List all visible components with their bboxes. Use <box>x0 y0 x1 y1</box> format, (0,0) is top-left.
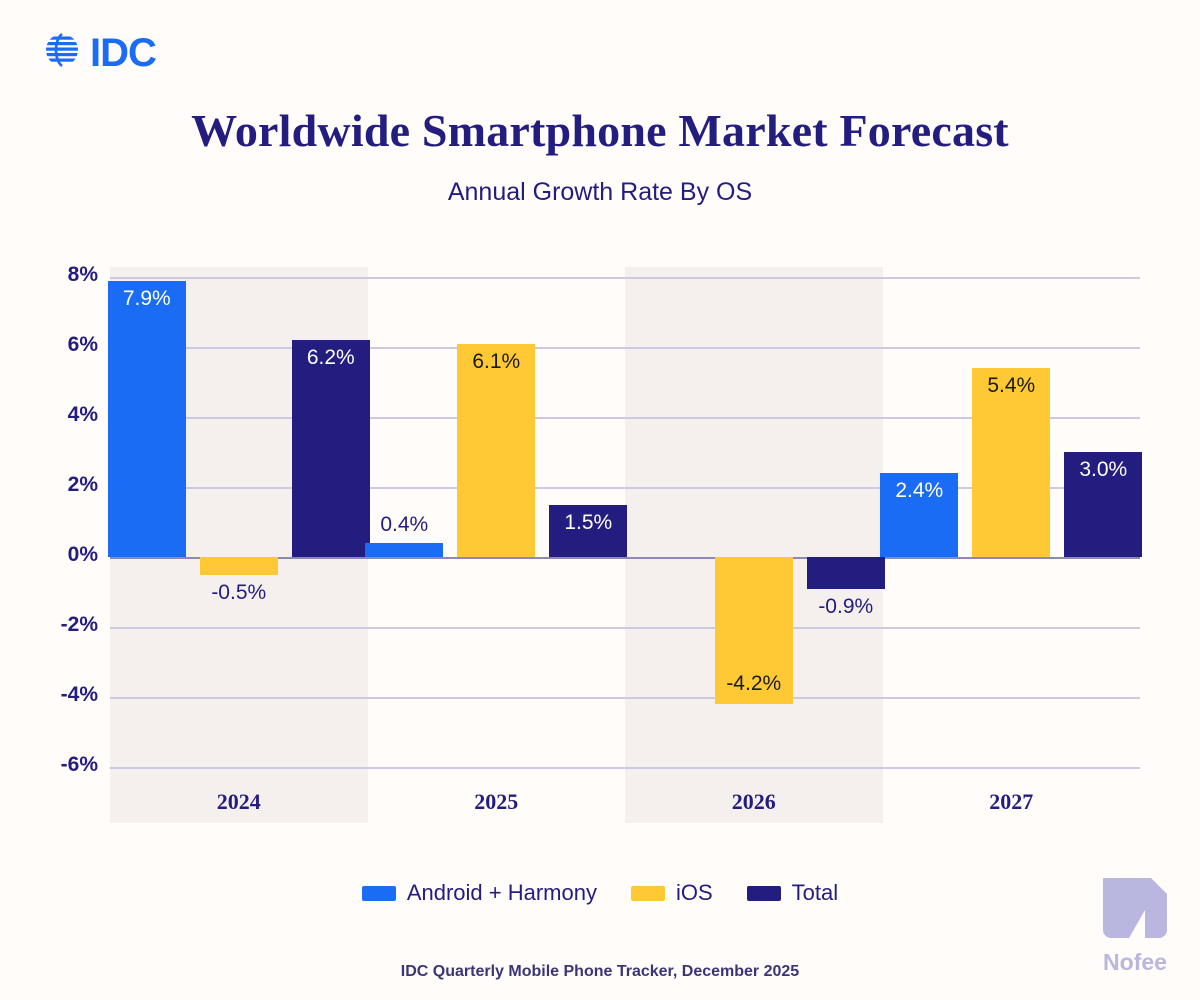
x-axis-tick-label: 2026 <box>625 789 883 815</box>
idc-logo: IDC <box>42 30 156 75</box>
bar-value-label: 6.2% <box>280 346 382 370</box>
y-axis-tick-label: 6% <box>24 333 98 357</box>
bar-value-label: 3.0% <box>1052 458 1154 482</box>
page-title: Worldwide Smartphone Market Forecast <box>0 104 1200 157</box>
bar-value-label: -0.9% <box>795 595 897 619</box>
bar[interactable] <box>200 557 278 575</box>
y-axis-tick-label: 0% <box>24 543 98 567</box>
legend-swatch <box>362 886 396 901</box>
legend-label: Android + Harmony <box>407 880 597 906</box>
chart-legend: Android + HarmonyiOSTotal <box>0 880 1200 906</box>
bar[interactable] <box>457 344 535 558</box>
nofee-logo-icon <box>1087 872 1183 949</box>
legend-item[interactable]: iOS <box>631 880 713 906</box>
bar[interactable] <box>807 557 885 589</box>
y-axis-tick-label: -4% <box>24 683 98 707</box>
plot-area: 7.9%-0.5%6.2%0.4%6.1%1.5%-4.2%-0.9%2.4%5… <box>110 267 1140 823</box>
bar-value-label: 6.1% <box>445 350 547 374</box>
y-axis-tick-label: 8% <box>24 263 98 287</box>
nofee-watermark: Nofee <box>1087 872 1183 976</box>
x-axis-tick-label: 2025 <box>368 789 626 815</box>
bar-value-label: 0.4% <box>353 513 455 537</box>
x-axis-tick-label: 2024 <box>110 789 368 815</box>
bar-value-label: 1.5% <box>537 511 639 535</box>
page-subtitle: Annual Growth Rate By OS <box>0 178 1200 207</box>
bar[interactable] <box>108 281 186 558</box>
gridline <box>110 627 1140 629</box>
globe-icon <box>42 30 82 75</box>
bar-value-label: 5.4% <box>960 374 1062 398</box>
gridline <box>110 697 1140 699</box>
category-band <box>625 267 883 823</box>
source-note: IDC Quarterly Mobile Phone Tracker, Dece… <box>0 963 1200 981</box>
y-axis-tick-label: -2% <box>24 613 98 637</box>
brand-wordmark: IDC <box>90 33 156 73</box>
gridline <box>110 347 1140 349</box>
legend-label: iOS <box>676 880 713 906</box>
legend-item[interactable]: Total <box>747 880 838 906</box>
y-axis-tick-label: 4% <box>24 403 98 427</box>
legend-label: Total <box>792 880 838 906</box>
bar-value-label: -4.2% <box>703 672 805 696</box>
x-axis-tick-label: 2027 <box>883 789 1141 815</box>
bar-value-label: -0.5% <box>188 581 290 605</box>
legend-swatch <box>747 886 781 901</box>
gridline <box>110 277 1140 279</box>
bar[interactable] <box>365 543 443 557</box>
legend-swatch <box>631 886 665 901</box>
bar-value-label: 7.9% <box>96 287 198 311</box>
gridline <box>110 767 1140 769</box>
nofee-wordmark: Nofee <box>1103 949 1167 975</box>
bar-value-label: 2.4% <box>868 479 970 503</box>
y-axis-tick-label: -6% <box>24 753 98 777</box>
y-axis-tick-label: 2% <box>24 473 98 497</box>
legend-item[interactable]: Android + Harmony <box>362 880 597 906</box>
